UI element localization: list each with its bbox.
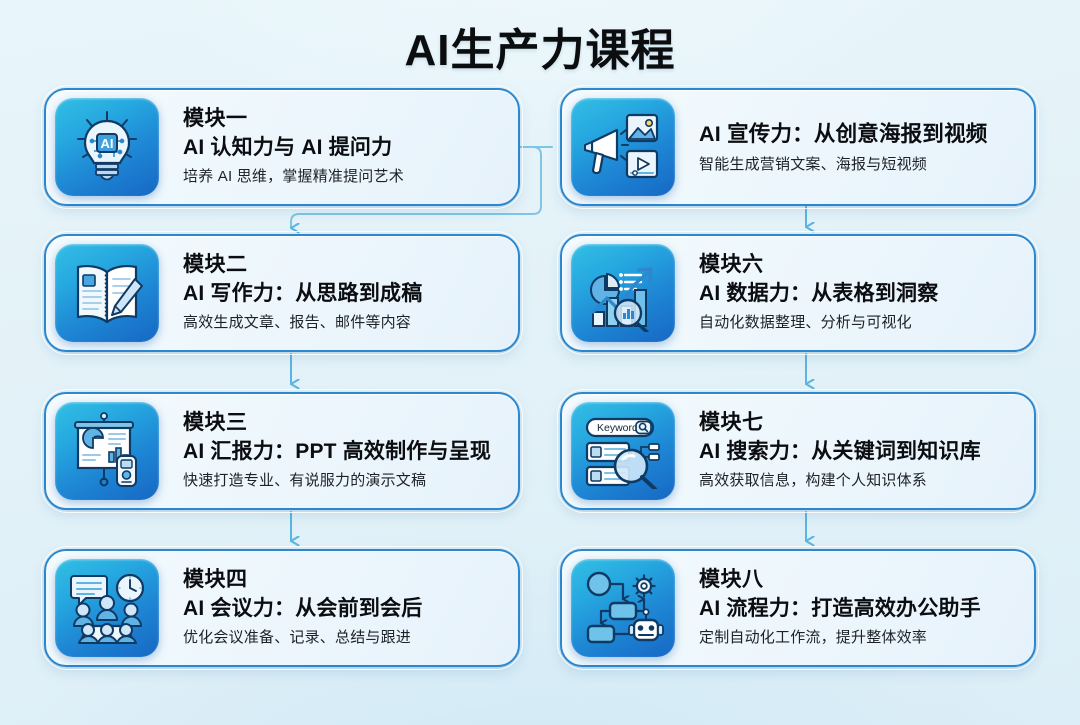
module-card-3-text: 模块三 AI 汇报力：PPT 高效制作与呈现 快速打造专业、有说服力的演示文稿 xyxy=(159,410,518,491)
module-desc: 智能生成营销文案、海报与短视频 xyxy=(699,154,1018,175)
module-card-7[interactable]: Keyword... xyxy=(560,392,1036,510)
module-card-7-text: 模块七 AI 搜索力：从关键词到知识库 高效获取信息，构建个人知识体系 xyxy=(675,410,1034,491)
module-desc: 自动化数据整理、分析与可视化 xyxy=(699,312,1018,333)
module-card-6[interactable]: 模块六 AI 数据力：从表格到洞察 自动化数据整理、分析与可视化 xyxy=(560,234,1036,352)
module-label: 模块一 xyxy=(183,106,502,132)
module-card-4-text: 模块四 AI 会议力：从会前到会后 优化会议准备、记录、总结与跟进 xyxy=(159,567,518,648)
module-title: AI 数据力：从表格到洞察 xyxy=(699,280,1018,308)
module-card-8[interactable]: 模块八 AI 流程力：打造高效办公助手 定制自动化工作流，提升整体效率 xyxy=(560,549,1036,667)
module-card-4[interactable]: 模块四 AI 会议力：从会前到会后 优化会议准备、记录、总结与跟进 xyxy=(44,549,520,667)
module-desc: 快速打造专业、有说服力的演示文稿 xyxy=(183,470,502,491)
ai-chip-label: AI xyxy=(101,136,114,151)
megaphone-media-icon xyxy=(571,98,675,196)
module-desc: 优化会议准备、记录、总结与跟进 xyxy=(183,627,502,648)
search-knowledge-icon: Keyword... xyxy=(571,402,675,500)
module-card-1[interactable]: AI 模块一 AI 认知力与 AI 提问力 培养 AI 思维，掌握精准提问艺术 xyxy=(44,88,520,206)
module-desc: 培养 AI 思维，掌握精准提问艺术 xyxy=(183,166,502,187)
module-title: AI 汇报力：PPT 高效制作与呈现 xyxy=(183,438,502,466)
lightbulb-ai-icon: AI xyxy=(55,98,159,196)
module-desc: 定制自动化工作流，提升整体效率 xyxy=(699,627,1018,648)
connector-m1-to-m5 xyxy=(520,147,560,208)
module-card-1-text: 模块一 AI 认知力与 AI 提问力 培养 AI 思维，掌握精准提问艺术 xyxy=(159,106,518,187)
module-card-6-text: 模块六 AI 数据力：从表格到洞察 自动化数据整理、分析与可视化 xyxy=(675,252,1034,333)
presentation-screen-icon xyxy=(55,402,159,500)
module-card-5-text: AI 宣传力：从创意海报到视频 智能生成营销文案、海报与短视频 xyxy=(675,119,1034,175)
module-label: 模块二 xyxy=(183,252,502,278)
module-title: AI 认知力与 AI 提问力 xyxy=(183,134,502,162)
chart-growth-magnifier-icon xyxy=(571,244,675,342)
module-label: 模块八 xyxy=(699,567,1018,593)
module-title: AI 搜索力：从关键词到知识库 xyxy=(699,438,1018,466)
module-card-2-text: 模块二 AI 写作力：从思路到成稿 高效生成文章、报告、邮件等内容 xyxy=(159,252,518,333)
module-card-3[interactable]: 模块三 AI 汇报力：PPT 高效制作与呈现 快速打造专业、有说服力的演示文稿 xyxy=(44,392,520,510)
workflow-robot-icon xyxy=(571,559,675,657)
module-label: 模块七 xyxy=(699,410,1018,436)
page-title: AI生产力课程 xyxy=(0,14,1080,78)
module-title: AI 宣传力：从创意海报到视频 xyxy=(699,120,1018,148)
module-desc: 高效获取信息，构建个人知识体系 xyxy=(699,470,1018,491)
module-desc: 高效生成文章、报告、邮件等内容 xyxy=(183,312,502,333)
module-title: AI 写作力：从思路到成稿 xyxy=(183,280,502,308)
module-card-8-text: 模块八 AI 流程力：打造高效办公助手 定制自动化工作流，提升整体效率 xyxy=(675,567,1034,648)
meeting-people-icon xyxy=(55,559,159,657)
module-title: AI 会议力：从会前到会后 xyxy=(183,595,502,623)
module-label: 模块六 xyxy=(699,252,1018,278)
module-card-2[interactable]: 模块二 AI 写作力：从思路到成稿 高效生成文章、报告、邮件等内容 xyxy=(44,234,520,352)
infographic-page: AI生产力课程 xyxy=(0,0,1080,725)
notebook-pen-icon xyxy=(55,244,159,342)
module-label: 模块四 xyxy=(183,567,502,593)
module-card-5[interactable]: AI 宣传力：从创意海报到视频 智能生成营销文案、海报与短视频 xyxy=(560,88,1036,206)
module-title: AI 流程力：打造高效办公助手 xyxy=(699,595,1018,623)
module-label: 模块三 xyxy=(183,410,502,436)
